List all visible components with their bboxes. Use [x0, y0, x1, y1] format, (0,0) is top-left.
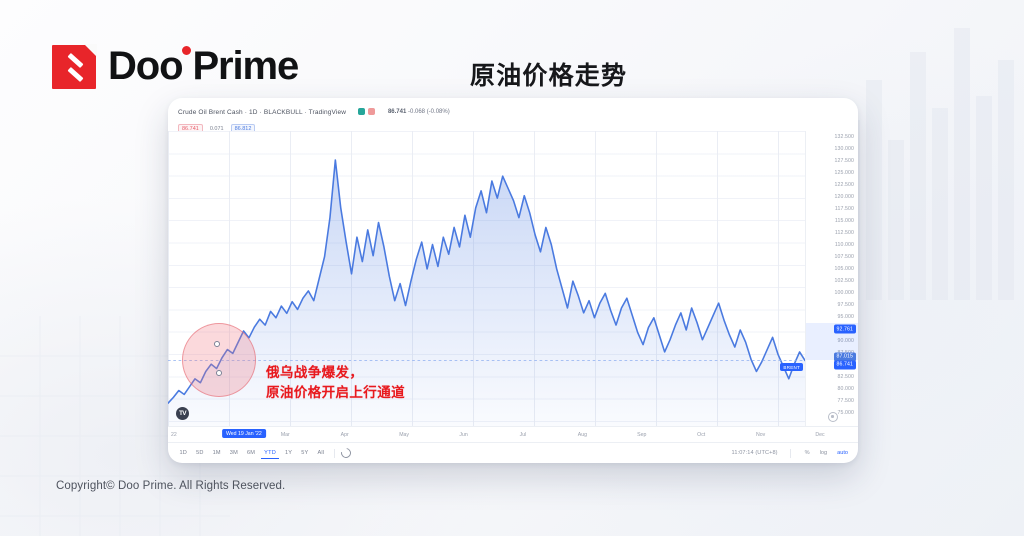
series-tag-brent: BRENT	[780, 363, 803, 371]
doo-prime-logo-icon	[52, 45, 96, 89]
price-badge-high[interactable]: 92.761	[834, 325, 856, 334]
time-tick: Nov	[756, 432, 765, 438]
timeframe-group: 1D5D1M3M6MYTD1Y5YAll	[176, 448, 328, 459]
quote-last: 86.741	[388, 109, 406, 115]
scale-option-percent[interactable]: %	[803, 449, 812, 457]
price-tick: 132.500	[835, 134, 854, 140]
quote-change: -0.068	[408, 109, 425, 115]
price-tick: 82.500	[838, 374, 854, 380]
chart-color-swatches	[358, 103, 378, 121]
tradingview-watermark-icon[interactable]: TV	[176, 407, 189, 420]
timeframe-6m[interactable]: 6M	[243, 448, 258, 458]
time-tick: Jun	[459, 432, 467, 438]
time-axis-selected-date[interactable]: Wed 19 Jan '22	[222, 429, 266, 438]
time-tick: Dec	[815, 432, 824, 438]
timeframe-5d[interactable]: 5D	[193, 448, 208, 458]
time-tick: Sep	[637, 432, 646, 438]
timeframe-1d[interactable]: 1D	[176, 448, 191, 458]
axis-settings-icon[interactable]	[828, 412, 838, 422]
time-tick: Oct	[697, 432, 705, 438]
time-tick: May	[399, 432, 409, 438]
price-tick: 130.000	[835, 146, 854, 152]
price-tick: 115.000	[835, 218, 854, 224]
price-tick: 117.500	[835, 206, 854, 212]
annotation-text-line-1: 俄乌战争爆发，	[266, 363, 363, 383]
price-tick: 107.500	[835, 254, 854, 260]
reset-chart-icon[interactable]	[339, 446, 353, 460]
toolbar-divider-2	[790, 449, 791, 458]
price-tick: 77.500	[838, 398, 854, 404]
quote-change-pct: (-0.08%)	[427, 109, 450, 115]
price-tick: 120.000	[835, 194, 854, 200]
price-tick: 75.000	[838, 410, 854, 416]
page-title: 原油价格走势	[470, 56, 627, 92]
brand-lockup: Doo Prime	[52, 44, 298, 89]
swatch-up-icon	[358, 108, 365, 115]
price-tick: 102.500	[835, 278, 854, 284]
scale-option-log[interactable]: log	[818, 449, 829, 457]
timeframe-1m[interactable]: 1M	[209, 448, 224, 458]
scale-option-auto[interactable]: auto	[835, 449, 850, 457]
timeframe-1y[interactable]: 1Y	[281, 448, 295, 458]
chart-symbol-title: Crude Oil Brent Cash · 1D · BLACKBULL · …	[178, 109, 346, 116]
price-tick: 127.500	[835, 158, 854, 164]
annotation-text-line-2: 原油价格开启上行通道	[266, 383, 405, 403]
price-tick: 112.500	[835, 230, 854, 236]
poster-canvas: Doo Prime 原油价格走势 Crude Oil Brent Cash · …	[0, 0, 1024, 536]
brand-name: Doo Prime	[108, 44, 298, 89]
price-badge-last[interactable]: 86.741	[834, 360, 856, 369]
chart-body: 俄乌战争爆发， 原油价格开启上行通道 BRENT TV 132.500130.0…	[168, 131, 858, 426]
chart-quote: 86.741 -0.068 (-0.08%)	[388, 109, 450, 115]
time-tick: Apr	[341, 432, 349, 438]
chart-clock: 11:07:14 (UTC+8)	[732, 450, 778, 456]
price-tick: 80.000	[838, 386, 854, 392]
price-series-chart	[168, 131, 805, 426]
price-axis[interactable]: 132.500130.000127.500125.000122.500120.0…	[805, 131, 858, 426]
toolbar-divider	[334, 449, 335, 458]
brand-accent-dot-icon	[182, 46, 191, 55]
timeframe-all[interactable]: All	[314, 448, 328, 458]
chart-plot-area[interactable]: 俄乌战争爆发， 原油价格开启上行通道 BRENT TV	[168, 131, 805, 426]
ellipse-annotation-icon[interactable]	[182, 323, 256, 397]
tradingview-chart-card: Crude Oil Brent Cash · 1D · BLACKBULL · …	[168, 98, 858, 463]
toolbar-right-group: 11:07:14 (UTC+8) % log auto	[732, 449, 850, 458]
annotation-handle-center[interactable]	[216, 370, 222, 376]
time-axis[interactable]: 22Wed 19 Jan '22MarAprMayJunJulAugSepOct…	[168, 426, 858, 442]
price-tick: 97.500	[838, 302, 854, 308]
chart-toolbar: 1D5D1M3M6MYTD1Y5YAll 11:07:14 (UTC+8) % …	[168, 442, 858, 463]
time-tick: Jul	[520, 432, 527, 438]
swatch-down-icon	[368, 108, 375, 115]
price-tick: 95.000	[838, 314, 854, 320]
price-tick: 105.000	[835, 266, 854, 272]
timeframe-ytd[interactable]: YTD	[261, 448, 280, 459]
chart-header: Crude Oil Brent Cash · 1D · BLACKBULL · …	[168, 98, 858, 131]
time-tick: Aug	[578, 432, 587, 438]
timeframe-3m[interactable]: 3M	[226, 448, 241, 458]
timeframe-5y[interactable]: 5Y	[298, 448, 312, 458]
price-tick: 125.000	[835, 170, 854, 176]
annotation-handle-top[interactable]	[214, 341, 220, 347]
price-tick: 110.000	[835, 242, 854, 248]
copyright-footer: Copyright© Doo Prime. All Rights Reserve…	[56, 480, 285, 492]
price-tick: 100.000	[835, 290, 854, 296]
time-tick: Mar	[281, 432, 290, 438]
price-tick: 122.500	[835, 182, 854, 188]
time-tick-year: 22	[171, 432, 177, 438]
